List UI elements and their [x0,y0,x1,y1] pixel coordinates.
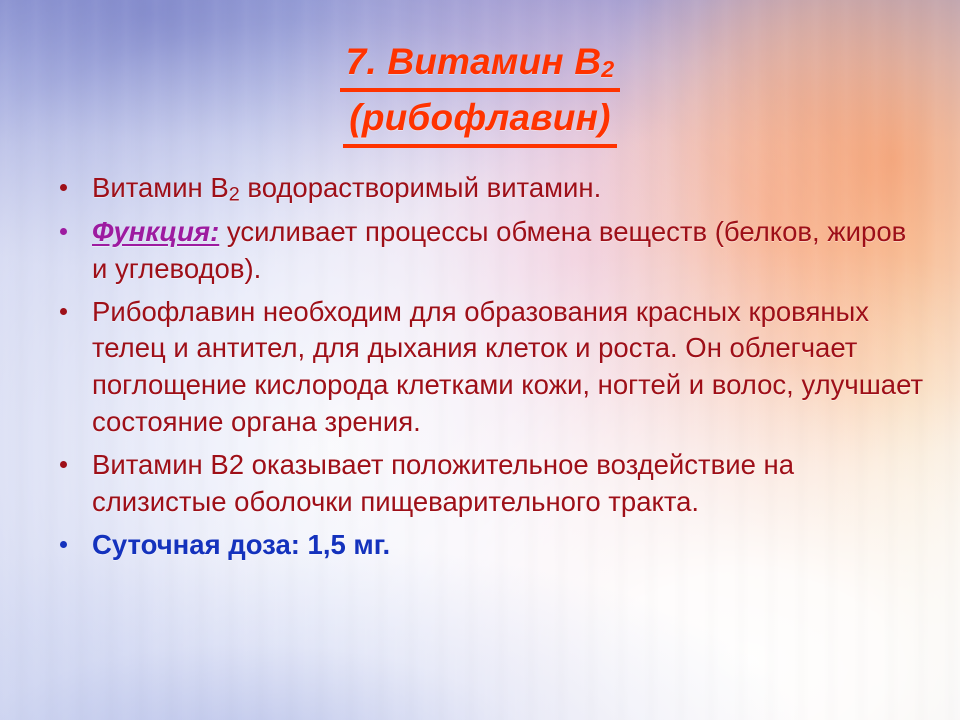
bullet-dot-icon [60,184,67,191]
slide-title-line-2-underlined: (рибофлавин) [343,92,616,148]
slide-title-line-1-underlined: 7. Витамин B2 [340,36,621,92]
slide-title: 7. Витамин B2 (рибофлавин) [0,36,960,148]
bullet-list: Витамин B2 водорастворимый витамин. Функ… [44,170,924,569]
slide-title-line-1: 7. Витамин B2 [0,36,960,92]
slide-title-text-main: 7. Витамин B [346,41,602,82]
bullet-body-text: Витамин B2 оказывает положительное возде… [92,449,794,517]
bullet-text-after: водорастворимый витамин. [240,172,601,203]
bullet-dot-icon [60,461,67,468]
slide-title-line-2: (рибофлавин) [0,92,960,148]
list-item-riboflavin-role: Рибофлавин необходим для образования кра… [44,294,924,441]
bullet-dot-icon [60,228,67,235]
bullet-dot-icon [60,541,67,548]
bullet-body-text: Суточная доза: 1,5 мг. [92,529,390,560]
list-item-daily-dose: Суточная доза: 1,5 мг. [44,527,924,564]
list-item-water-soluble: Витамин B2 водорастворимый витамин. [44,170,924,208]
slide-title-subscript: 2 [601,56,614,82]
list-item-mucous-membranes: Витамин B2 оказывает положительное возде… [44,447,924,521]
bullet-lead-label: Функция: [92,216,219,247]
bullet-dot-icon [60,308,67,315]
list-item-function: Функция: усиливает процессы обмена вещес… [44,214,924,288]
bullet-body-text: Рибофлавин необходим для образования кра… [92,296,923,438]
slide-root: 7. Витамин B2 (рибофлавин) Витамин B2 во… [0,0,960,720]
bullet-text-before: Витамин B [92,172,229,203]
bullet-subscript: 2 [229,183,240,205]
slide-content: 7. Витамин B2 (рибофлавин) Витамин B2 во… [0,0,960,720]
